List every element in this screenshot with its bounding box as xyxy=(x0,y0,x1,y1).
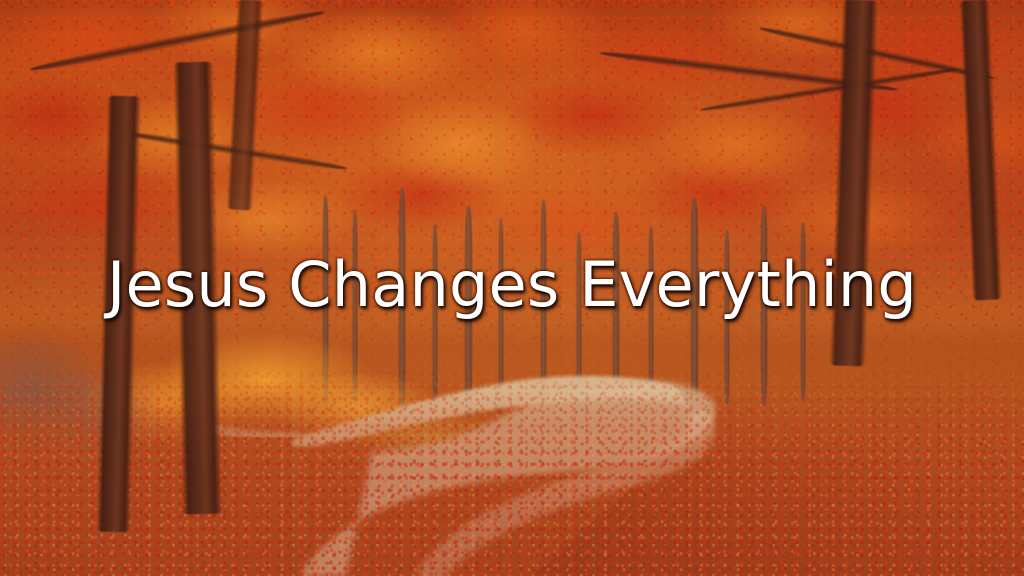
page-title: Jesus Changes Everything xyxy=(107,252,917,317)
title-block: Jesus Changes Everything xyxy=(0,252,1024,317)
slide-canvas: Jesus Changes Everything xyxy=(0,0,1024,576)
foreground-trunk-upper-left xyxy=(227,0,264,211)
